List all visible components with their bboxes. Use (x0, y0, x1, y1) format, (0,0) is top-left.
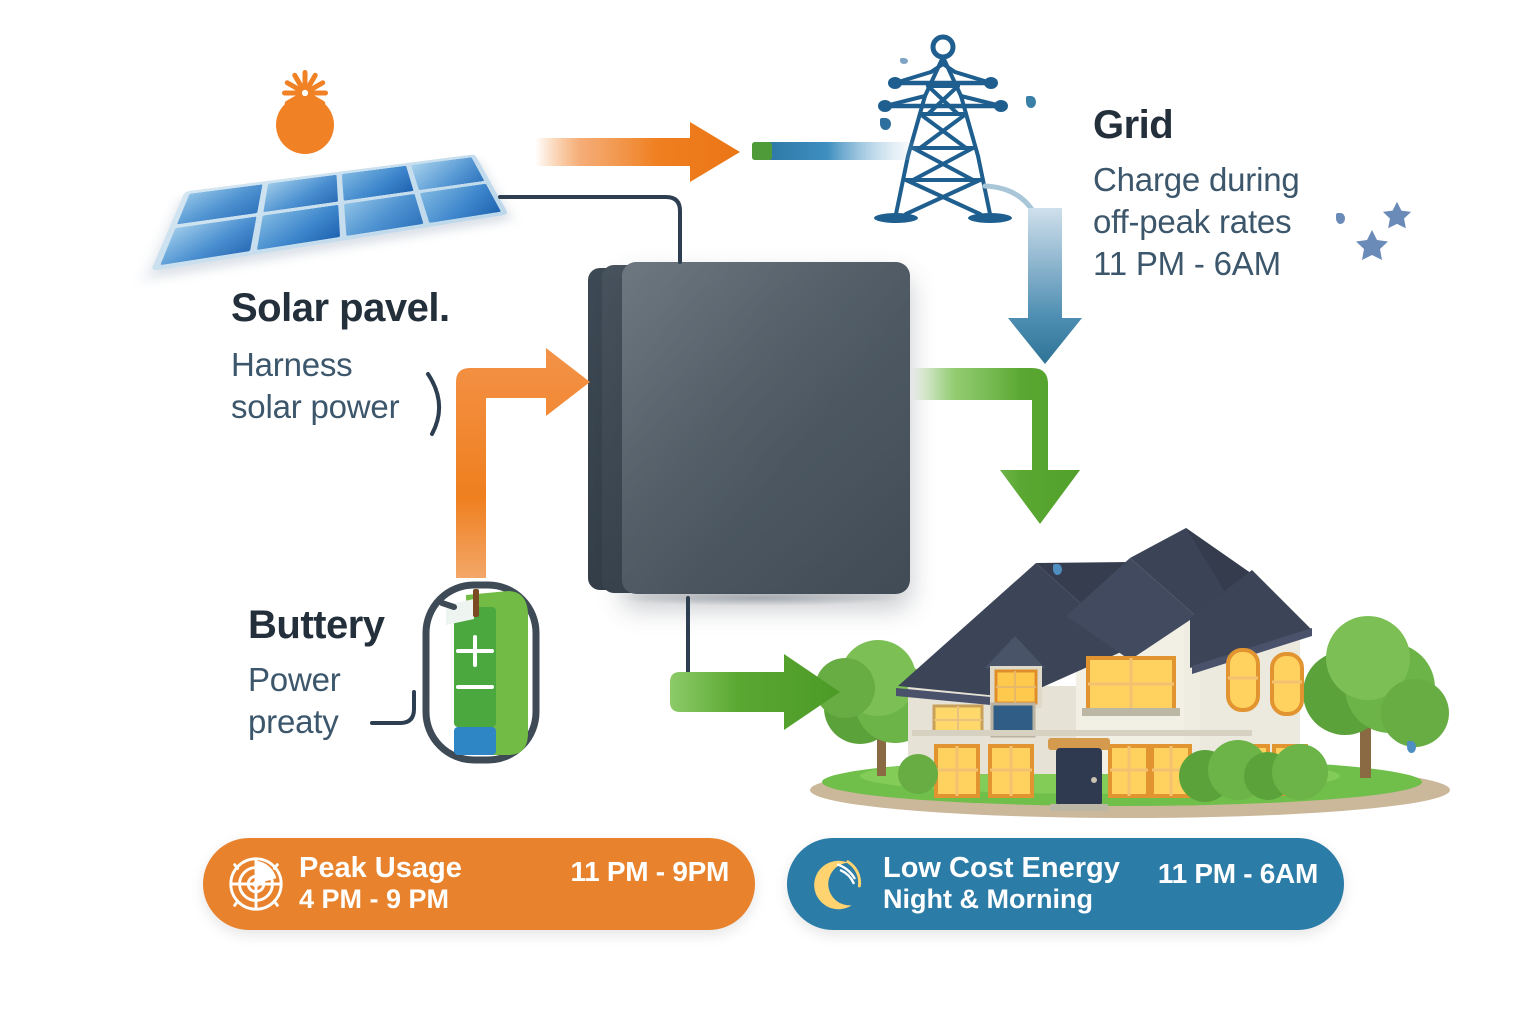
battery-subtitle-line2: preaty (248, 701, 385, 743)
peak-usage-badge[interactable]: Peak Usage 4 PM - 9 PM 11 PM - 9PM (203, 838, 755, 930)
low-cost-energy-subtitle: Night & Morning (883, 884, 1120, 915)
solar-cell (344, 194, 423, 236)
bush (898, 754, 938, 794)
peak-usage-subtitle: 4 PM - 9 PM (299, 884, 462, 915)
peak-usage-title: Peak Usage (299, 853, 462, 884)
solar-panel-plate (151, 154, 509, 271)
dot-decoration (1026, 96, 1036, 108)
battery-subtitle-line1: Power (248, 659, 385, 701)
grid-subtitle-line2: off-peak rates (1093, 201, 1300, 243)
solar-cell (257, 205, 340, 250)
solar-cell (160, 216, 256, 265)
solar-to-storage-line (500, 197, 680, 262)
radar-clock-icon (225, 853, 287, 915)
battery-to-storage-arrow (456, 348, 590, 578)
dot-decoration (900, 58, 908, 64)
solar-to-grid-arrow (535, 122, 740, 182)
window (990, 746, 1032, 796)
window (1082, 658, 1180, 716)
house-icon (800, 518, 1460, 818)
solar-subtitle-line2: solar power (231, 386, 450, 428)
solar-title: Solar pavel. (231, 288, 450, 328)
battery-cell-icon (418, 575, 548, 770)
grid-title: Grid (1093, 105, 1300, 145)
low-cost-energy-text: Low Cost Energy Night & Morning (883, 853, 1120, 915)
grid-subtitle-line3: 11 PM - 6AM (1093, 243, 1300, 285)
solar-subtitle-line1: Harness (231, 344, 450, 386)
dot-decoration (1053, 564, 1062, 575)
window (1110, 746, 1148, 796)
dot-decoration (1407, 741, 1416, 753)
battery-subtitle: Power preaty (248, 659, 385, 743)
transmission-tower-icon (868, 28, 1018, 238)
grid-label-block: Grid Charge during off-peak rates 11 PM … (1093, 105, 1300, 286)
solar-panel-icon (176, 140, 506, 275)
battery-label-block: Buttery Power preaty (248, 605, 385, 743)
dot-decoration (1336, 213, 1345, 224)
low-cost-energy-title: Low Cost Energy (883, 853, 1120, 884)
window (1272, 654, 1302, 714)
window (936, 746, 978, 796)
storage-to-home-arrow (912, 368, 1080, 524)
grid-to-home-arrow (1008, 208, 1082, 364)
battery-title: Buttery (248, 605, 385, 645)
crescent-moon-icon (809, 853, 871, 915)
star-icon (1382, 200, 1412, 230)
window (934, 706, 982, 734)
solar-subtitle: Harness solar power (231, 344, 450, 428)
solar-label-block: Solar pavel. Harness solar power (231, 288, 450, 428)
tree-right (1303, 616, 1449, 778)
low-cost-energy-badge[interactable]: Low Cost Energy Night & Morning 11 PM - … (787, 838, 1344, 930)
front-door (1048, 738, 1110, 811)
solar-cell (420, 184, 501, 223)
grid-subtitle-line1: Charge during (1093, 159, 1300, 201)
infographic-canvas: Solar pavel. Harness solar power Buttery… (0, 0, 1536, 1024)
peak-usage-text: Peak Usage 4 PM - 9 PM (299, 853, 462, 915)
low-cost-energy-time: 11 PM - 6AM (1158, 858, 1318, 890)
peak-usage-time: 11 PM - 9PM (570, 856, 729, 888)
dot-decoration (880, 118, 891, 130)
storage-down-line (688, 598, 716, 686)
grid-subtitle: Charge during off-peak rates 11 PM - 6AM (1093, 159, 1300, 286)
star-icon (1355, 228, 1389, 262)
window (1228, 650, 1258, 710)
